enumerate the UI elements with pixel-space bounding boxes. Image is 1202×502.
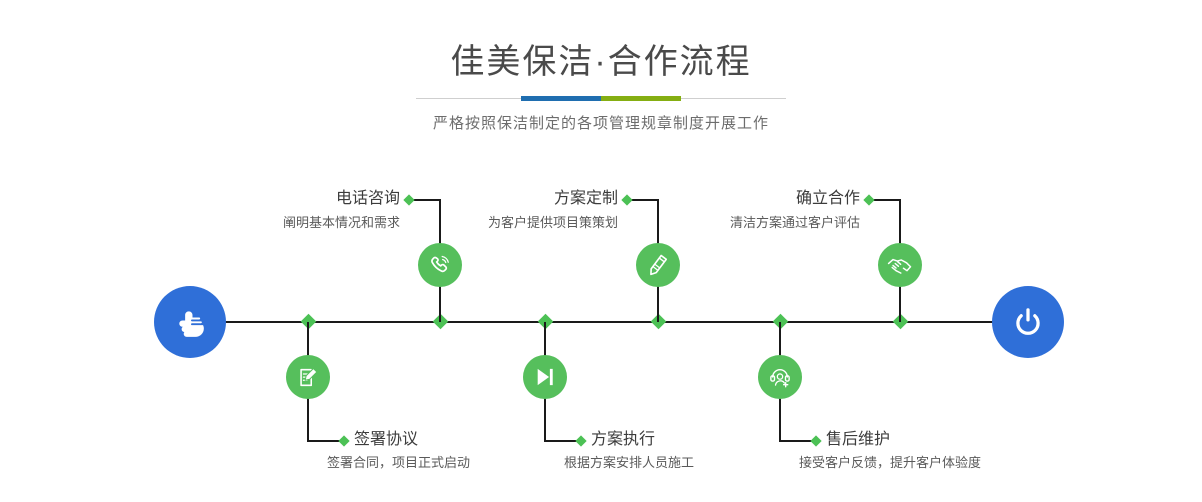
connector-marker — [621, 194, 632, 205]
timeline-end-endpoint — [992, 286, 1064, 358]
step-icon-badge — [523, 355, 567, 399]
step-description: 清洁方案通过客户评估 — [620, 215, 860, 231]
step-title: 方案定制 — [420, 190, 618, 208]
step-description: 为客户提供项目策策划 — [380, 215, 618, 231]
handshake-icon — [886, 251, 914, 279]
flow-diagram: 佳美保洁·合作流程 严格按照保洁制定的各项管理规章制度开展工作 — [0, 0, 1202, 502]
connector-marker — [338, 435, 349, 446]
step-icon-badge — [758, 355, 802, 399]
step-description: 接受客户反馈，提升客户体验度 — [799, 455, 1139, 471]
step-icon-badge — [418, 243, 462, 287]
pencil-edit-icon — [645, 252, 671, 278]
play-skip-icon — [532, 364, 558, 390]
connector-horizontal — [871, 199, 901, 201]
divider-segment-blue — [521, 96, 601, 101]
power-button-icon — [1009, 303, 1047, 341]
pointing-hand-icon — [171, 303, 209, 341]
phone-call-icon — [427, 252, 453, 278]
step-icon-badge — [286, 355, 330, 399]
header: 佳美保洁·合作流程 严格按照保洁制定的各项管理规章制度开展工作 — [0, 0, 1202, 133]
connector-marker — [863, 194, 874, 205]
step-title: 电话咨询 — [200, 190, 400, 208]
step-description: 阐明基本情况和需求 — [160, 215, 400, 231]
step-title: 售后维护 — [826, 431, 1126, 449]
step-icon-badge — [878, 243, 922, 287]
step-icon-badge — [636, 243, 680, 287]
timeline-start-endpoint — [154, 286, 226, 358]
page-subtitle: 严格按照保洁制定的各项管理规章制度开展工作 — [0, 112, 1202, 133]
page-title: 佳美保洁·合作流程 — [0, 42, 1202, 82]
divider-segment-green — [601, 96, 681, 101]
step-title: 确立合作 — [660, 190, 860, 208]
connector-marker — [403, 194, 414, 205]
title-divider — [416, 96, 786, 102]
customer-support-icon — [767, 364, 793, 390]
connector-horizontal — [629, 199, 659, 201]
document-sign-icon — [296, 365, 321, 390]
